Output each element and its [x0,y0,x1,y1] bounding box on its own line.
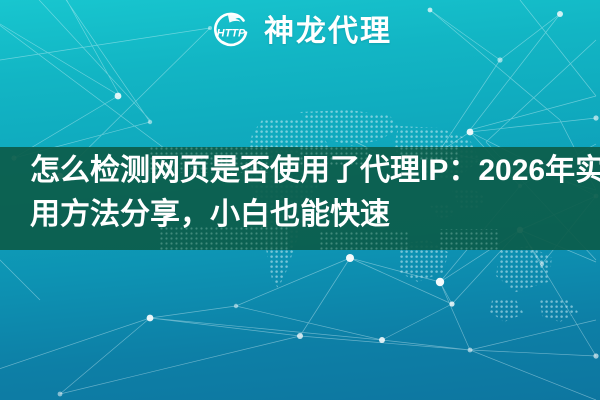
http-dragon-circle-logo: HTTP [208,9,254,55]
headline-band: 怎么检测网页是否使用了代理IP：2026年实用方法分享，小白也能快速 [0,147,600,250]
page-title: 怎么检测网页是否使用了代理IP：2026年实用方法分享，小白也能快速 [30,149,600,237]
brand-header: HTTP 神龙代理 [0,6,600,58]
brand-name: 神龙代理 [264,17,392,47]
poster-canvas: HTTP 神龙代理 [0,0,600,400]
svg-text:HTTP: HTTP [217,28,246,40]
